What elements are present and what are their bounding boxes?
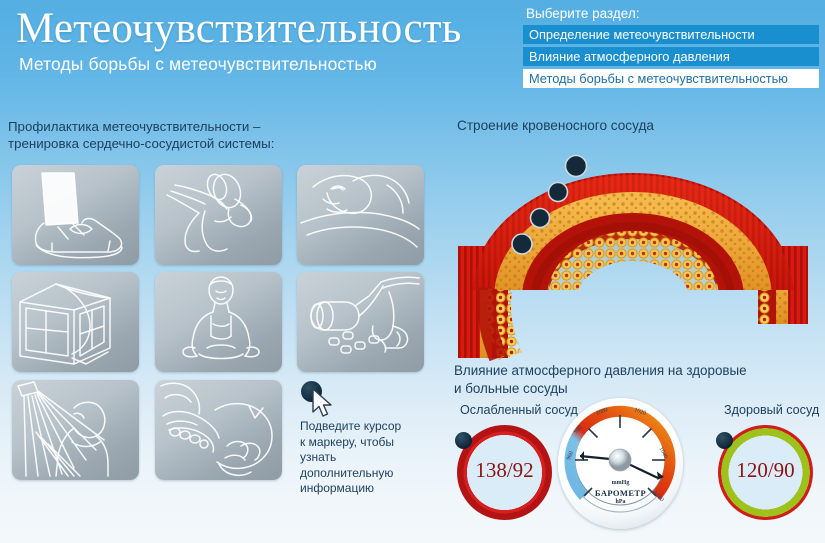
thumb-yoga-meditation[interactable]	[155, 272, 282, 372]
healthy-vessel-value: 120/90	[718, 458, 813, 483]
hint-line-2: к маркеру, чтобы	[300, 435, 430, 451]
hint-line-1: Подведите курсор	[300, 419, 430, 435]
healthy-vessel-label: Здоровый сосуд	[724, 403, 819, 417]
thumb-healthy-teeth-nutrition[interactable]	[155, 380, 282, 480]
infographic-root: Метеочувствительность Методы борьбы с ме…	[0, 0, 825, 543]
section-selector-label: Выберите раздел:	[526, 6, 819, 21]
page-title: Метеочувствительность	[16, 4, 462, 54]
thumb-dumbbell-exercise[interactable]	[155, 165, 282, 265]
barometer-name: БАРОМЕТР	[558, 488, 683, 498]
weak-vessel-value: 138/92	[457, 458, 552, 483]
pressure-section-title: Влияние атмосферного давления на здоровы…	[454, 362, 747, 397]
vessel-diagram	[440, 138, 825, 363]
barometer-unit-hpa: hPa	[558, 499, 683, 505]
barometer-gauge: 960 980 1000 1020 1040 1060 mmHg БАРОМЕТ…	[558, 398, 683, 533]
prevention-heading-line2: тренировка сердечно-сосудистой системы:	[8, 135, 274, 152]
vessel-diagram-title: Строение кровеносного сосуда	[457, 118, 654, 133]
thumb-taking-pills[interactable]	[297, 272, 424, 372]
thumb-healthy-sleep[interactable]	[297, 165, 424, 265]
hint-line-4: информацию	[300, 481, 430, 497]
mouse-cursor-icon	[311, 388, 335, 423]
barometer-dial	[558, 398, 683, 533]
page-subtitle: Методы борьбы с метеочувствительностью	[19, 54, 377, 75]
thumb-comfortable-shoes[interactable]	[12, 165, 139, 265]
barometer-unit-mmhg: mmHg	[558, 480, 683, 486]
pressure-title-line1: Влияние атмосферного давления на здоровы…	[454, 362, 747, 380]
pressure-title-line2: и больные сосуды	[454, 380, 747, 398]
hint-line-3: узнать дополнительную	[300, 450, 430, 481]
menu-item-definition[interactable]: Определение метеочувствительности	[523, 25, 819, 44]
weak-vessel-marker-dot[interactable]	[455, 432, 472, 449]
prevention-heading-line1: Профилактика метеочувствительности –	[8, 118, 274, 135]
thumb-open-window-fresh-air[interactable]	[12, 272, 139, 372]
healthy-vessel-marker-dot[interactable]	[716, 432, 733, 449]
hint-text: Подведите курсор к маркеру, чтобы узнать…	[300, 419, 430, 497]
section-selector: Выберите раздел: Определение метеочувств…	[523, 6, 819, 91]
menu-item-pressure-influence[interactable]: Влияние атмосферного давления	[523, 47, 819, 66]
prevention-heading: Профилактика метеочувствительности – тре…	[8, 118, 274, 152]
thumb-contrast-shower[interactable]	[12, 380, 139, 480]
menu-item-methods[interactable]: Методы борьбы с метеочувствительностью	[523, 69, 819, 88]
